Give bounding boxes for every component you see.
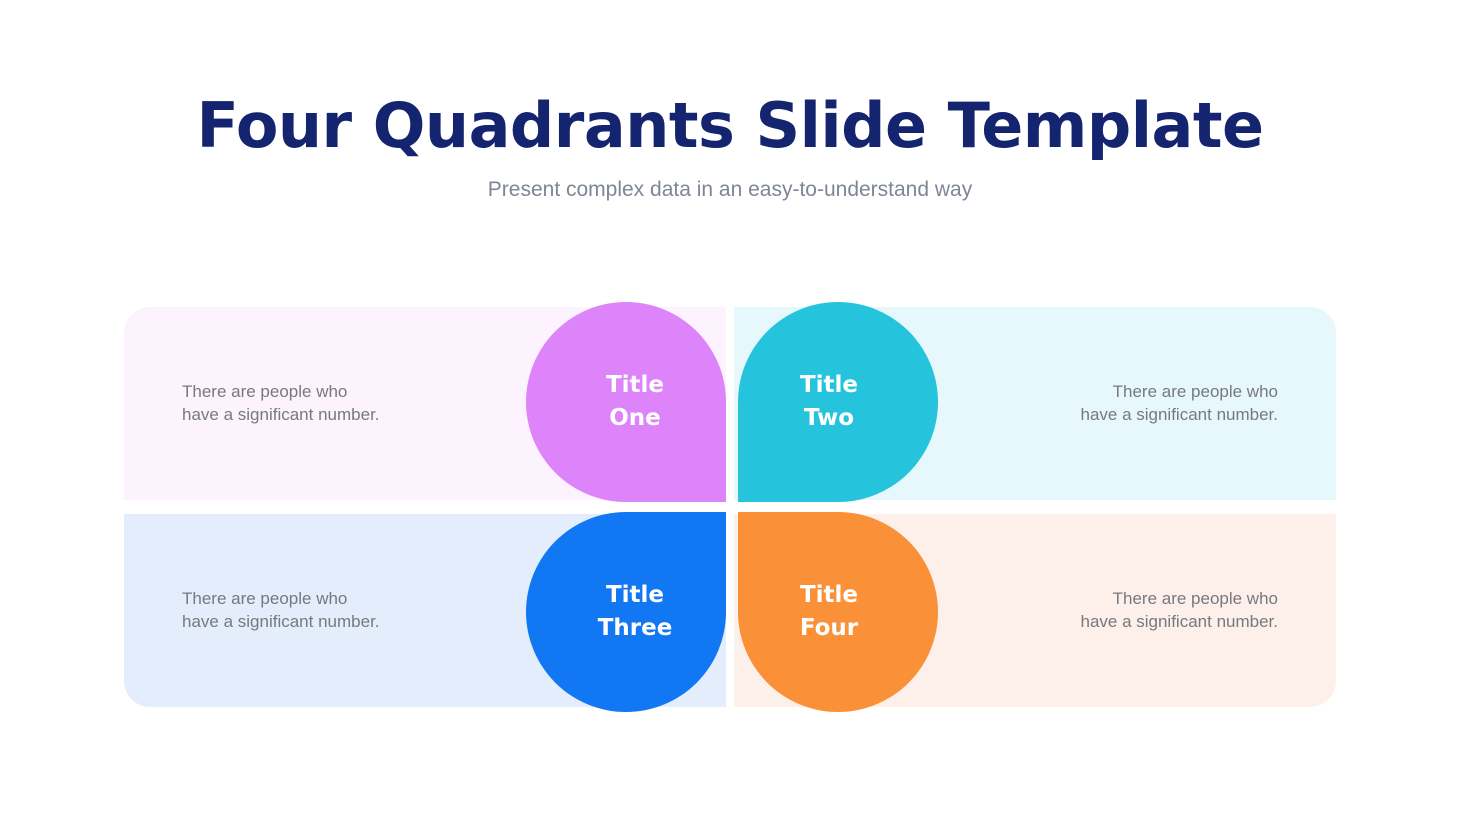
- quadrant-title-three: Title Three: [598, 579, 673, 645]
- quadrant-body-two: There are people who have a significant …: [1080, 381, 1278, 426]
- quadrant-shape-four[interactable]: Title Four: [738, 512, 938, 712]
- quadrant-shape-two[interactable]: Title Two: [738, 302, 938, 502]
- quadrant-diagram: There are people who have a significant …: [124, 307, 1336, 707]
- quadrant-title-two: Title Two: [800, 369, 858, 435]
- quadrant-title-four: Title Four: [800, 579, 858, 645]
- quadrant-shape-one[interactable]: Title One: [526, 302, 726, 502]
- quadrant-body-one: There are people who have a significant …: [182, 381, 380, 426]
- quadrant-title-one: Title One: [606, 369, 664, 435]
- quadrant-shape-three[interactable]: Title Three: [526, 512, 726, 712]
- slide-header: Four Quadrants Slide Template Present co…: [0, 0, 1460, 204]
- quadrant-body-three: There are people who have a significant …: [182, 588, 380, 633]
- page-title: Four Quadrants Slide Template: [0, 0, 1460, 164]
- page-subtitle: Present complex data in an easy-to-under…: [0, 164, 1460, 204]
- quadrant-body-four: There are people who have a significant …: [1080, 588, 1278, 633]
